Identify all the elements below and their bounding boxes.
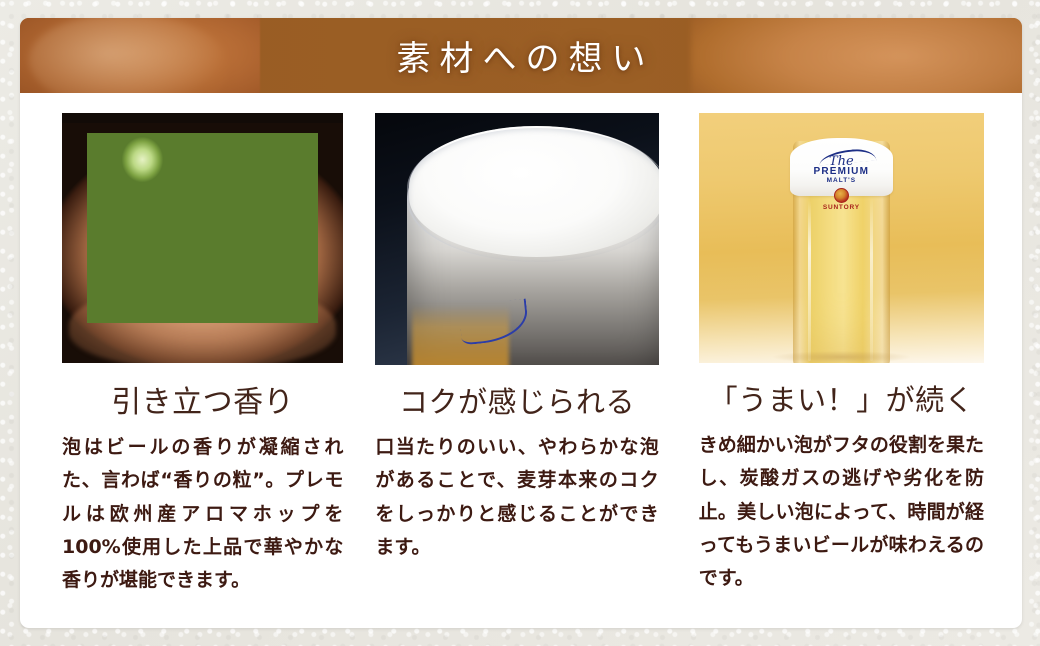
feature-column-body-richness: コクが感じられる 口当たりのいい、やわらかな泡があることで、麦芽本来のコクをしっ… [361,113,680,597]
glass-rim-highlight [407,126,659,262]
section-title: 素材への想い [20,18,1022,93]
section-banner: 素材への想い [20,18,1022,93]
feature-columns: 引き立つ香り 泡はビールの香りが凝縮された、言わば“香りの粒”。プレモルは欧州産… [20,93,1022,597]
feature-heading-body-richness: コクが感じられる [375,379,658,421]
beer-foam-head [790,138,893,196]
feature-column-lasting-taste: The PREMIUM MALT'S SUNTORY 「うまい！」が続く きめ細… [681,113,1000,597]
hop-cones-cluster [87,133,318,323]
feature-body-aroma: 泡はビールの香りが凝縮された、言わば“香りの粒”。プレモルは欧州産アロマホップを… [62,431,343,597]
feature-body-body-richness: 口当たりのいい、やわらかな泡があることで、麦芽本来のコクをしっかりと感じることが… [375,431,658,564]
feature-column-aroma: 引き立つ香り 泡はビールの香りが凝縮された、言わば“香りの粒”。プレモルは欧州産… [42,113,361,597]
feature-body-lasting-taste: きめ細かい泡がフタの役割を果たし、炭酸ガスの逃げや劣化を防止。美しい泡によって、… [699,429,984,595]
beer-foam-head-closeup-photo [375,113,658,365]
premium-malts-beer-glass-photo: The PREMIUM MALT'S SUNTORY [699,113,984,363]
hops-in-hands-photo [62,113,343,363]
feature-heading-aroma: 引き立つ香り [62,377,343,421]
glass-ground-shadow [773,351,910,364]
content-card: 素材への想い 引き立つ香り 泡はビールの香りが凝縮された、言わば“香りの粒”。プ… [20,18,1022,628]
feature-heading-lasting-taste: 「うまい！」が続く [699,377,984,419]
